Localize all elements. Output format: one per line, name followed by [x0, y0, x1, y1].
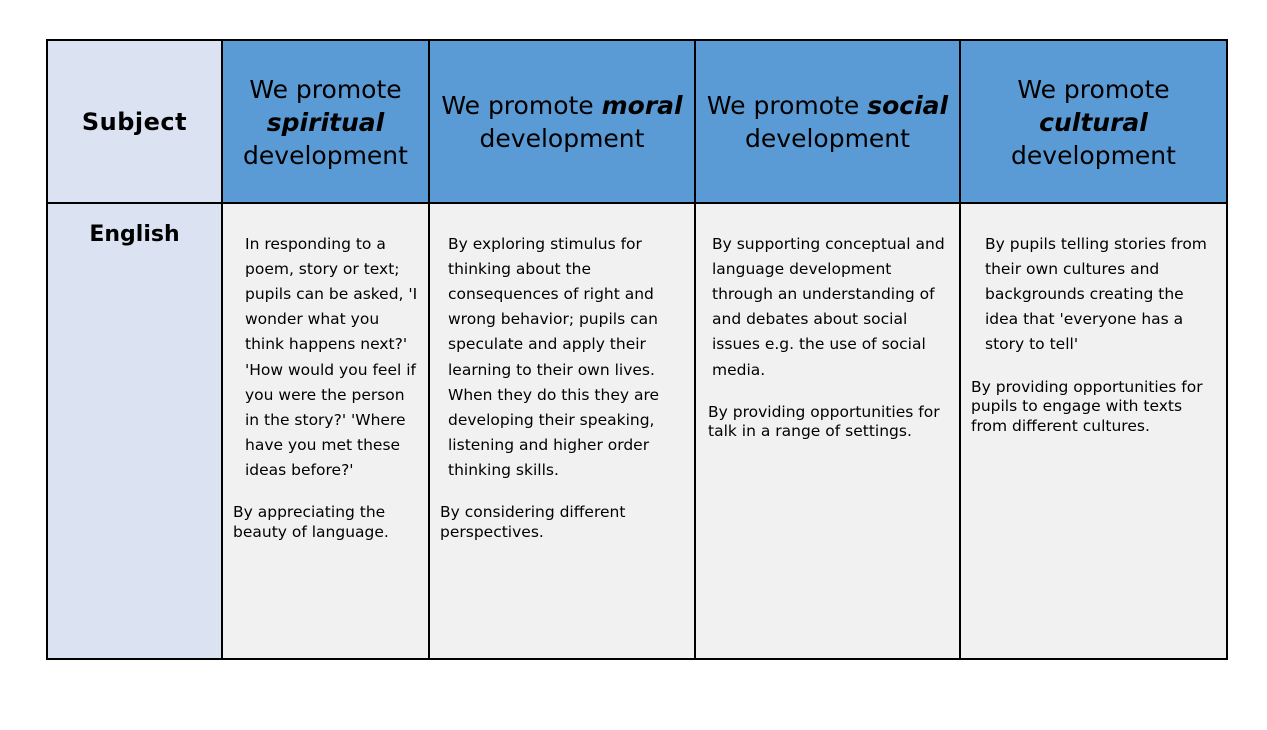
header-prefix: We promote	[249, 75, 401, 104]
paragraph-follow: By providing opportunities for talk in a…	[708, 403, 951, 443]
column-header-cultural-text: We promote cultural development	[961, 71, 1226, 172]
column-header-social: We promote social development	[695, 40, 960, 203]
paragraph-main: By pupils telling stories from their own…	[971, 232, 1220, 358]
column-header-spiritual: We promote spiritual development	[222, 40, 429, 203]
cell-english-social: By supporting conceptual and language de…	[695, 203, 960, 659]
header-emphasis: moral	[602, 91, 683, 120]
paragraph-follow: By providing opportunities for pupils to…	[971, 378, 1220, 437]
header-suffix: development	[243, 141, 408, 170]
header-suffix: development	[480, 124, 645, 153]
cell-inner: By supporting conceptual and language de…	[696, 204, 959, 442]
cell-inner: By exploring stimulus for thinking about…	[430, 204, 694, 543]
header-emphasis: spiritual	[267, 108, 384, 137]
cell-english-cultural: By pupils telling stories from their own…	[960, 203, 1227, 659]
header-prefix: We promote	[1017, 75, 1169, 104]
column-header-subject: Subject	[47, 40, 222, 203]
header-prefix: We promote	[441, 91, 593, 120]
paragraph-follow: By considering different perspectives.	[440, 503, 684, 543]
cell-english-spiritual: In responding to a poem, story or text; …	[222, 203, 429, 659]
header-suffix: development	[1011, 141, 1176, 170]
cell-inner: By pupils telling stories from their own…	[961, 204, 1226, 437]
header-prefix: We promote	[707, 91, 859, 120]
column-header-social-text: We promote social development	[696, 89, 959, 155]
column-header-subject-label: Subject	[82, 108, 187, 136]
column-header-moral-text: We promote moral development	[430, 89, 694, 155]
paragraph-main: By supporting conceptual and language de…	[708, 232, 951, 383]
subject-name-label: English	[48, 204, 221, 247]
header-suffix: development	[745, 124, 910, 153]
table-header-row: Subject We promote spiritual development…	[47, 40, 1227, 203]
cell-inner: In responding to a poem, story or text; …	[223, 204, 428, 543]
header-emphasis: social	[867, 91, 948, 120]
smsc-development-table: Subject We promote spiritual development…	[46, 39, 1228, 660]
column-header-moral: We promote moral development	[429, 40, 695, 203]
header-emphasis: cultural	[1039, 108, 1148, 137]
paragraph-follow: By appreciating the beauty of language.	[233, 503, 418, 543]
paragraph-main: In responding to a poem, story or text; …	[233, 232, 418, 483]
subject-cell-english: English	[47, 203, 222, 659]
column-header-spiritual-text: We promote spiritual development	[223, 71, 428, 172]
cell-english-moral: By exploring stimulus for thinking about…	[429, 203, 695, 659]
smsc-grid-container: Subject We promote spiritual development…	[46, 39, 1226, 658]
column-header-cultural: We promote cultural development	[960, 40, 1227, 203]
paragraph-main: By exploring stimulus for thinking about…	[440, 232, 684, 483]
table-row-english: English In responding to a poem, story o…	[47, 203, 1227, 659]
